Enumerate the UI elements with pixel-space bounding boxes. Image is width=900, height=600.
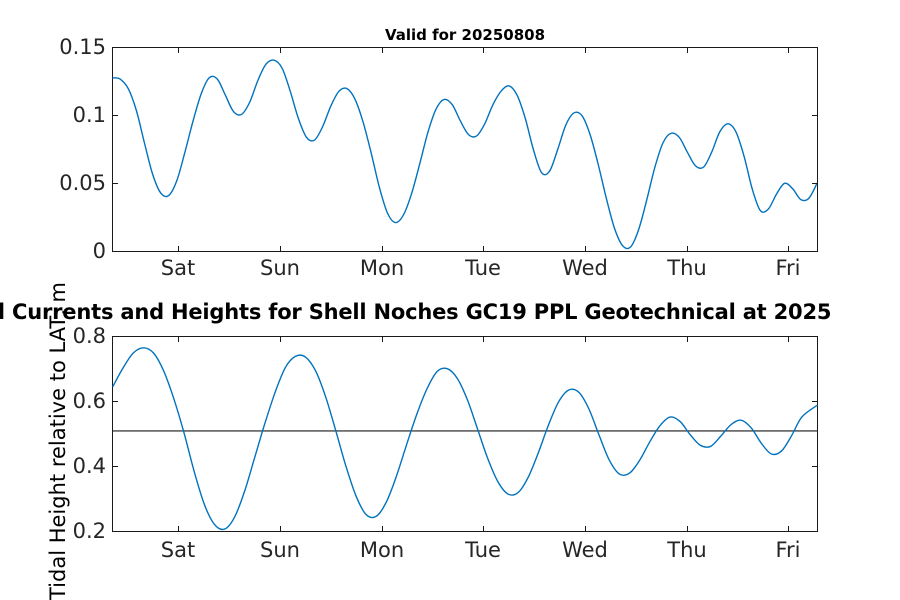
bottom-chart-ytick-right-0.8 <box>812 336 818 337</box>
bottom-chart-xtick-sun <box>280 526 281 532</box>
bottom-chart-xtick-label-4: Wed <box>562 538 608 562</box>
bottom-chart-ytick-0.2 <box>112 531 118 532</box>
top-chart-xtick-mon <box>382 246 383 252</box>
top-chart-ytick-right-0.15 <box>812 47 818 48</box>
bottom-chart-xtick-top-wed <box>585 336 586 342</box>
bottom-chart-xtick-top-mon <box>382 336 383 342</box>
bottom-chart-xtick-tue <box>483 526 484 532</box>
top-chart-xtick-top-sat <box>178 47 179 53</box>
bottom-chart-xtick-top-thu <box>687 336 688 342</box>
top-chart-svg <box>113 48 817 251</box>
bottom-chart-xtick-wed <box>585 526 586 532</box>
bottom-chart-plot-area <box>112 336 818 532</box>
bottom-chart-ytick-right-0.2 <box>812 531 818 532</box>
figure-canvas: Valid for 20250808 Surface tidal current… <box>0 0 900 600</box>
top-chart-xtick-tue <box>483 246 484 252</box>
bottom-chart-xtick-label-0: Sat <box>161 538 195 562</box>
top-chart-plot-area <box>112 47 818 252</box>
top-chart-ytick-label-1: 0.1 <box>30 103 106 127</box>
bottom-chart-ytick-0.8 <box>112 336 118 337</box>
bottom-chart-xtick-fri <box>788 526 789 532</box>
top-chart-xtick-top-wed <box>585 47 586 53</box>
top-chart-title: Valid for 20250808 <box>112 26 818 44</box>
top-chart-xtick-sun <box>280 246 281 252</box>
bottom-chart-ytick-label-3: 0.2 <box>30 519 106 543</box>
top-chart-ytick-right-0 <box>812 251 818 252</box>
top-chart-ytick-right-0.1 <box>812 115 818 116</box>
top-chart-xtick-wed <box>585 246 586 252</box>
bottom-chart-xtick-sat <box>178 526 179 532</box>
top-chart-xtick-top-fri <box>788 47 789 53</box>
top-chart-xtick-fri <box>788 246 789 252</box>
bottom-chart-xtick-label-1: Sun <box>260 538 300 562</box>
top-chart-xtick-top-thu <box>687 47 688 53</box>
top-chart-ytick-right-0.05 <box>812 183 818 184</box>
bottom-chart-xtick-top-fri <box>788 336 789 342</box>
top-chart-ytick-0 <box>112 251 118 252</box>
bottom-chart-ytick-label-2: 0.4 <box>30 454 106 478</box>
top-chart-ytick-0.05 <box>112 183 118 184</box>
top-chart-ytick-label-3: 0 <box>30 239 106 263</box>
top-chart-xtick-label-3: Tue <box>465 256 501 280</box>
figure-super-title: Tidal Currents and Heights for Shell Noc… <box>0 300 900 324</box>
top-chart-xtick-label-6: Fri <box>775 256 800 280</box>
top-chart-ytick-0.1 <box>112 115 118 116</box>
bottom-chart-xtick-label-3: Tue <box>465 538 501 562</box>
top-chart-ytick-label-2: 0.05 <box>30 171 106 195</box>
bottom-chart-xtick-label-6: Fri <box>775 538 800 562</box>
top-chart-xtick-label-5: Thu <box>667 256 706 280</box>
bottom-chart-ytick-right-0.6 <box>812 401 818 402</box>
top-chart-data-line <box>113 60 817 249</box>
top-chart-ytick-label-0: 0.15 <box>30 35 106 59</box>
bottom-chart-data-line <box>113 348 817 530</box>
bottom-chart-xtick-top-sun <box>280 336 281 342</box>
bottom-chart-xtick-label-2: Mon <box>360 538 404 562</box>
bottom-chart-svg <box>113 337 817 531</box>
top-chart-ytick-0.15 <box>112 47 118 48</box>
bottom-chart-xtick-top-sat <box>178 336 179 342</box>
bottom-chart-xtick-mon <box>382 526 383 532</box>
top-chart-xtick-label-1: Sun <box>260 256 300 280</box>
top-chart-xtick-sat <box>178 246 179 252</box>
top-chart-xtick-top-tue <box>483 47 484 53</box>
bottom-chart-ytick-label-0: 0.8 <box>30 324 106 348</box>
bottom-chart-ytick-right-0.4 <box>812 466 818 467</box>
top-chart-xtick-top-mon <box>382 47 383 53</box>
bottom-chart-ytick-0.6 <box>112 401 118 402</box>
top-chart-xtick-thu <box>687 246 688 252</box>
bottom-chart-xtick-thu <box>687 526 688 532</box>
bottom-chart-xtick-top-tue <box>483 336 484 342</box>
bottom-chart-ytick-0.4 <box>112 466 118 467</box>
top-chart-xtick-top-sun <box>280 47 281 53</box>
bottom-chart-xtick-label-5: Thu <box>667 538 706 562</box>
top-chart-xtick-label-0: Sat <box>161 256 195 280</box>
top-chart-xtick-label-4: Wed <box>562 256 608 280</box>
bottom-chart-ytick-label-1: 0.6 <box>30 389 106 413</box>
top-chart-xtick-label-2: Mon <box>360 256 404 280</box>
